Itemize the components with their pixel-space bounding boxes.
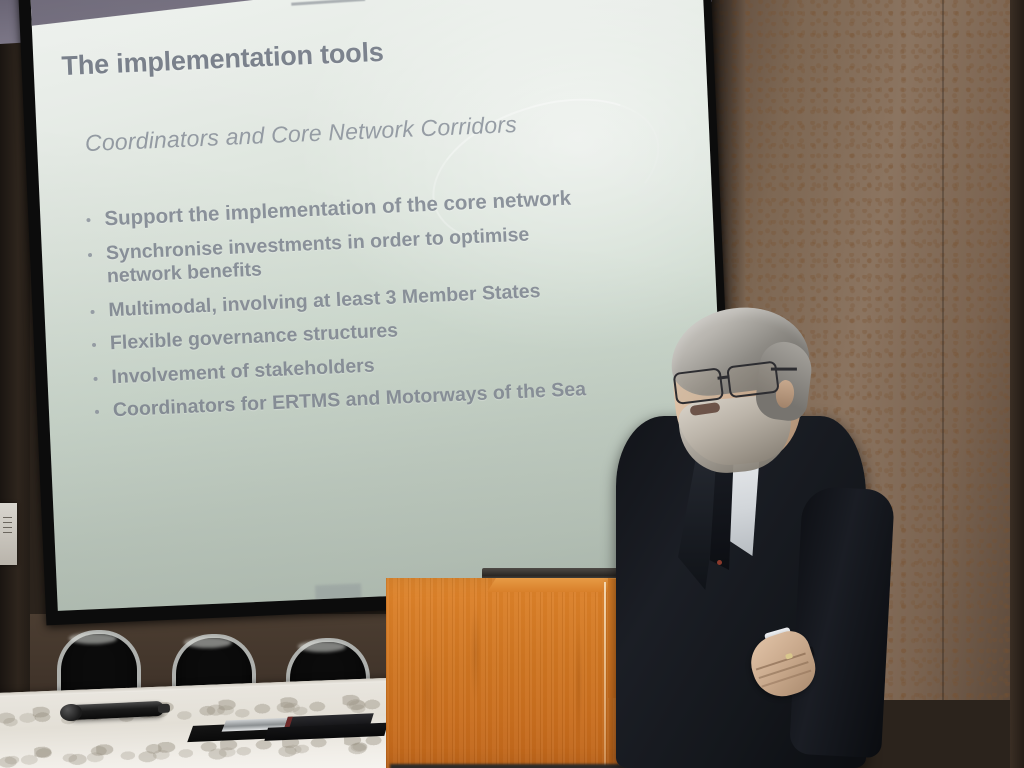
decorative-swoosh (414, 73, 678, 271)
right-lens (726, 361, 780, 399)
slide-subtitle: Coordinators and Core Network Corridors (84, 111, 517, 157)
bullet-marker-icon (93, 376, 97, 380)
bullet-item: Flexible governance structures (88, 308, 698, 355)
bullet-text-continuation: network benefits (107, 241, 695, 287)
bullet-text: Synchronise investments in order to opti… (105, 223, 529, 264)
bullet-text: Multimodal, involving at least 3 Member … (108, 280, 541, 321)
bullet-item: Synchronise investments in order to opti… (84, 218, 695, 288)
logo-underline (291, 0, 365, 6)
bullet-text: Coordinators for ERTMS and Motorways of … (112, 378, 586, 421)
bullet-item: Coordinators for ERTMS and Motorways of … (91, 375, 701, 422)
bullet-marker-icon (86, 218, 90, 222)
lectern-seam (604, 582, 606, 768)
bullet-item: Multimodal, involving at least 3 Member … (86, 275, 696, 322)
bullet-item: Support the implementation of the core n… (82, 183, 692, 231)
right-arm (789, 486, 895, 758)
bullet-text: Involvement of stakeholders (111, 354, 375, 388)
bullet-text: Flexible governance structures (109, 319, 398, 354)
screen-top-shadow (31, 0, 703, 51)
fingers (756, 653, 806, 671)
far-right-wall (1010, 0, 1024, 768)
bullet-marker-icon (90, 309, 94, 313)
speaker (616, 312, 886, 768)
bullet-item: Involvement of stakeholders (89, 342, 699, 389)
wall-seam (942, 0, 944, 700)
slide-title: The implementation tools (61, 37, 384, 82)
bullet-marker-icon (88, 252, 92, 256)
left-lens (673, 367, 725, 405)
lapel-pin (717, 560, 722, 565)
slide-bullet-list: Support the implementation of the core n… (82, 183, 701, 435)
slide-footer-placeholder (315, 583, 362, 600)
presentation-photo: European Commission The implementation t… (0, 0, 1024, 768)
microphone-tail (158, 704, 170, 714)
bullet-text: Support the implementation of the core n… (104, 187, 572, 231)
wall-notice (0, 503, 17, 565)
chair-highlight (184, 637, 232, 648)
microphone-head (60, 704, 83, 722)
chair-highlight (69, 633, 117, 644)
bullet-marker-icon (92, 343, 96, 347)
bullet-marker-icon (95, 410, 99, 414)
glasses-temple (771, 368, 797, 371)
chair-highlight (298, 641, 346, 652)
european-commission-logo: European Commission (286, 0, 379, 6)
